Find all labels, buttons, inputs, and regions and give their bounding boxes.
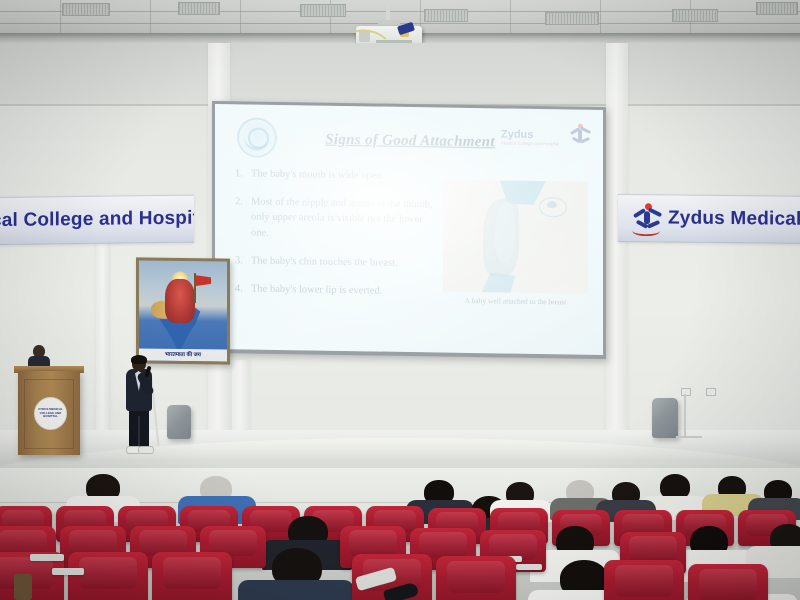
saffron-flag-graphic xyxy=(195,275,211,286)
banner-left: lical College and Hospital xyxy=(0,195,194,246)
zydus-figure-logo xyxy=(632,202,662,234)
podium-logo: ZYDUS MEDICAL COLLEGE AND HOSPITAL xyxy=(34,397,67,430)
slide-bullet-item: 2. Most of the nipple and areola in the … xyxy=(235,194,440,243)
auditorium-seat xyxy=(436,556,516,600)
slide-bullet-item: 1. The baby's mouth is wide open. xyxy=(235,166,440,184)
slide-bullet-text: The baby's mouth is wide open. xyxy=(251,167,440,185)
ceiling-vent xyxy=(672,9,718,22)
slide-bullet-number: 2. xyxy=(235,194,251,240)
auditorium-seat xyxy=(152,552,232,600)
audience-member-body xyxy=(238,580,354,600)
slide-figure-caption: A baby well attached to the breast xyxy=(443,296,588,307)
slide-zydus-name: Zydus xyxy=(501,128,533,141)
slide-bullet-item: 3. The baby's chin touches the breast. xyxy=(235,253,440,271)
presenter-shoe xyxy=(138,446,154,454)
ceiling-vent xyxy=(756,2,798,15)
projection-screen: Signs of Good Attachment Zydus Medical C… xyxy=(212,104,606,356)
slide-zydus-logo: Zydus Medical College and Hospital xyxy=(501,122,593,157)
shoulder-bag xyxy=(14,574,32,600)
speaker-cable xyxy=(684,394,686,438)
slide-bullet-item: 4. The baby's lower lip is everted. xyxy=(235,281,440,299)
projector-mount-pole xyxy=(386,0,390,22)
slide-zydus-subtitle: Medical College and Hospital xyxy=(501,140,559,146)
slide-zydus-figure-icon xyxy=(569,124,591,150)
floor-speaker-right xyxy=(652,398,678,438)
ceiling-vent xyxy=(178,2,220,15)
slide-bullet-text: The baby's chin touches the breast. xyxy=(251,253,440,271)
slide-bullet-text: The baby's lower lip is everted. xyxy=(251,282,440,300)
slide-bullet-number: 1. xyxy=(235,166,251,181)
wall-pillar xyxy=(606,43,628,463)
college-emblem-logo xyxy=(237,117,277,158)
ceiling-vent xyxy=(545,12,599,25)
slide-bullet-list: 1. The baby's mouth is wide open. 2. Mos… xyxy=(235,166,440,313)
floor-speaker-left xyxy=(167,405,191,439)
screen-surface: Signs of Good Attachment Zydus Medical C… xyxy=(215,104,603,355)
ceiling-vent xyxy=(424,9,468,22)
wall-outlet xyxy=(706,388,716,396)
slide-bullet-number: 3. xyxy=(235,253,251,268)
podium: ZYDUS MEDICAL COLLEGE AND HOSPITAL xyxy=(18,371,80,455)
back-wall-upper xyxy=(0,43,800,106)
writing-tablet xyxy=(30,554,64,561)
writing-tablet xyxy=(516,564,542,570)
banner-left-text: lical College and Hospital xyxy=(0,207,194,232)
wall-outlet xyxy=(681,388,691,396)
banner-right-text: Zydus Medical C xyxy=(662,207,800,231)
ceiling-vent xyxy=(300,4,346,17)
framed-picture-bharat-mata: भारतमाता की जय xyxy=(136,257,230,364)
deity-figure-graphic xyxy=(165,279,195,323)
speaker-cable xyxy=(676,436,702,438)
auditorium-seat xyxy=(68,552,148,600)
baby-attachment-illustration xyxy=(443,180,588,294)
podium-logo-text: ZYDUS MEDICAL COLLEGE AND HOSPITAL xyxy=(38,408,63,418)
slide-bullet-text: Most of the nipple and areola in the mou… xyxy=(251,195,440,244)
audience-seating-area xyxy=(0,468,800,600)
lecture-hall-photo: lical College and Hospital Zydus Medical… xyxy=(0,0,800,600)
writing-tablet xyxy=(52,568,84,575)
ceiling-vent xyxy=(62,3,110,16)
slide-bullet-number: 4. xyxy=(235,281,251,296)
banner-right: Zydus Medical C xyxy=(618,194,800,244)
slide-title: Signs of Good Attachment xyxy=(310,131,510,151)
auditorium-seat xyxy=(688,564,768,600)
auditorium-seat xyxy=(604,560,684,600)
presenter-with-microphone xyxy=(124,356,154,453)
